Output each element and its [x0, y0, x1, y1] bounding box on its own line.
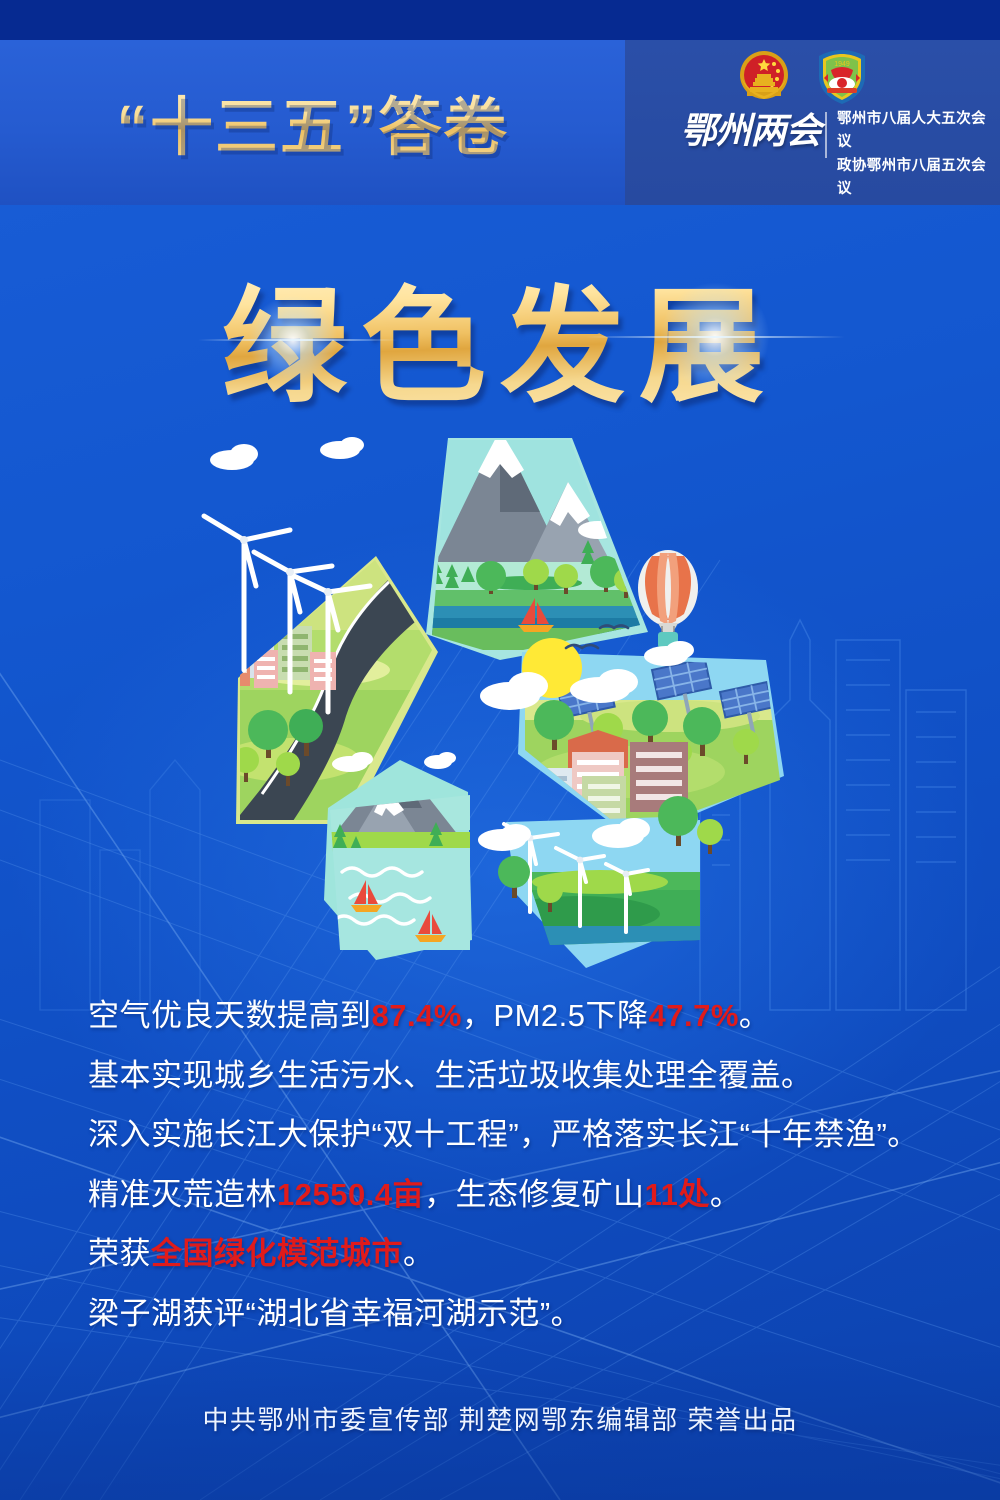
meeting-names: 鄂州市八届人大五次会议 政协鄂州市八届五次会议 [837, 108, 1000, 202]
highlight-value: 12550.4亩 [277, 1177, 424, 1212]
header-divider [825, 112, 827, 158]
stat-line: 梁子湖获评“湖北省幸福河湖示范”。 [88, 1298, 918, 1329]
stat-line: 荣获全国绿化模范城市。 [88, 1238, 918, 1269]
stat-text: ，PM2.5下降 [462, 998, 649, 1033]
stat-text: 。 [403, 1236, 435, 1271]
statistics-list: 空气优良天数提高到87.4%，PM2.5下降47.7%。 基本实现城乡生活污水、… [88, 1000, 918, 1357]
arrow-top-mountain-scene [210, 430, 660, 660]
cppcc-year-text: 1949 [834, 61, 850, 68]
footer-credit: 中共鄂州市委宣传部 荆楚网鄂东编辑部 荣誉出品 [0, 1400, 1000, 1437]
stat-line: 空气优良天数提高到87.4%，PM2.5下降47.7%。 [88, 1000, 918, 1031]
stat-text: 。 [710, 1177, 742, 1212]
stat-text: 基本实现城乡生活污水、生活垃圾收集处理全覆盖。 [88, 1058, 813, 1093]
stat-text: 梁子湖获评“湖北省幸福河湖示范”。 [88, 1296, 582, 1331]
national-emblem-icon [733, 46, 795, 108]
header-right-panel: 1949 鄂州两会 鄂州市八届人大五次会议 政协鄂州市八届五次会议 [625, 40, 1000, 205]
header-band: “十三五”答卷 [0, 40, 1000, 205]
main-title-text: 绿色发展 [222, 245, 778, 426]
top-strip [0, 0, 1000, 40]
cppcc-emblem-icon: 1949 [811, 46, 873, 108]
stat-line: 深入实施长江大保护“双十工程”，严格落实长江“十年禁渔”。 [88, 1119, 918, 1150]
stat-line: 基本实现城乡生活污水、生活垃圾收集处理全覆盖。 [88, 1060, 918, 1091]
highlight-value: 47.7% [649, 998, 739, 1033]
arrow-right-solar-city-scene [480, 626, 800, 851]
meeting-line-2: 政协鄂州市八届五次会议 [837, 155, 1000, 202]
stat-text: 深入实施长江大保护“双十工程”，严格落实长江“十年禁渔”。 [88, 1117, 919, 1152]
wind-farm-scene [478, 812, 720, 968]
stat-text: ，生态修复矿山 [424, 1177, 645, 1212]
recycling-illustration [200, 420, 820, 1000]
main-title: 绿色发展 [0, 245, 1000, 426]
hot-air-balloon-icon [638, 550, 698, 648]
stat-text: 精准灭荒造林 [88, 1177, 277, 1212]
stat-text: 。 [739, 998, 771, 1033]
stat-text: 荣获 [88, 1236, 151, 1271]
header-left-panel: “十三五”答卷 [0, 40, 625, 205]
meeting-line-1: 鄂州市八届人大五次会议 [837, 108, 1000, 155]
highlight-value: 全国绿化模范城市 [151, 1236, 403, 1271]
poster-root: “十三五”答卷 [0, 0, 1000, 1500]
emblem-group: 1949 [733, 46, 873, 108]
stat-line: 精准灭荒造林12550.4亩，生态修复矿山11处。 [88, 1179, 918, 1210]
highlight-value: 11处 [645, 1177, 710, 1212]
highlight-value: 87.4% [372, 998, 462, 1033]
kicker-title: “十三五”答卷 [117, 77, 509, 168]
stat-text: 空气优良天数提高到 [88, 998, 372, 1033]
